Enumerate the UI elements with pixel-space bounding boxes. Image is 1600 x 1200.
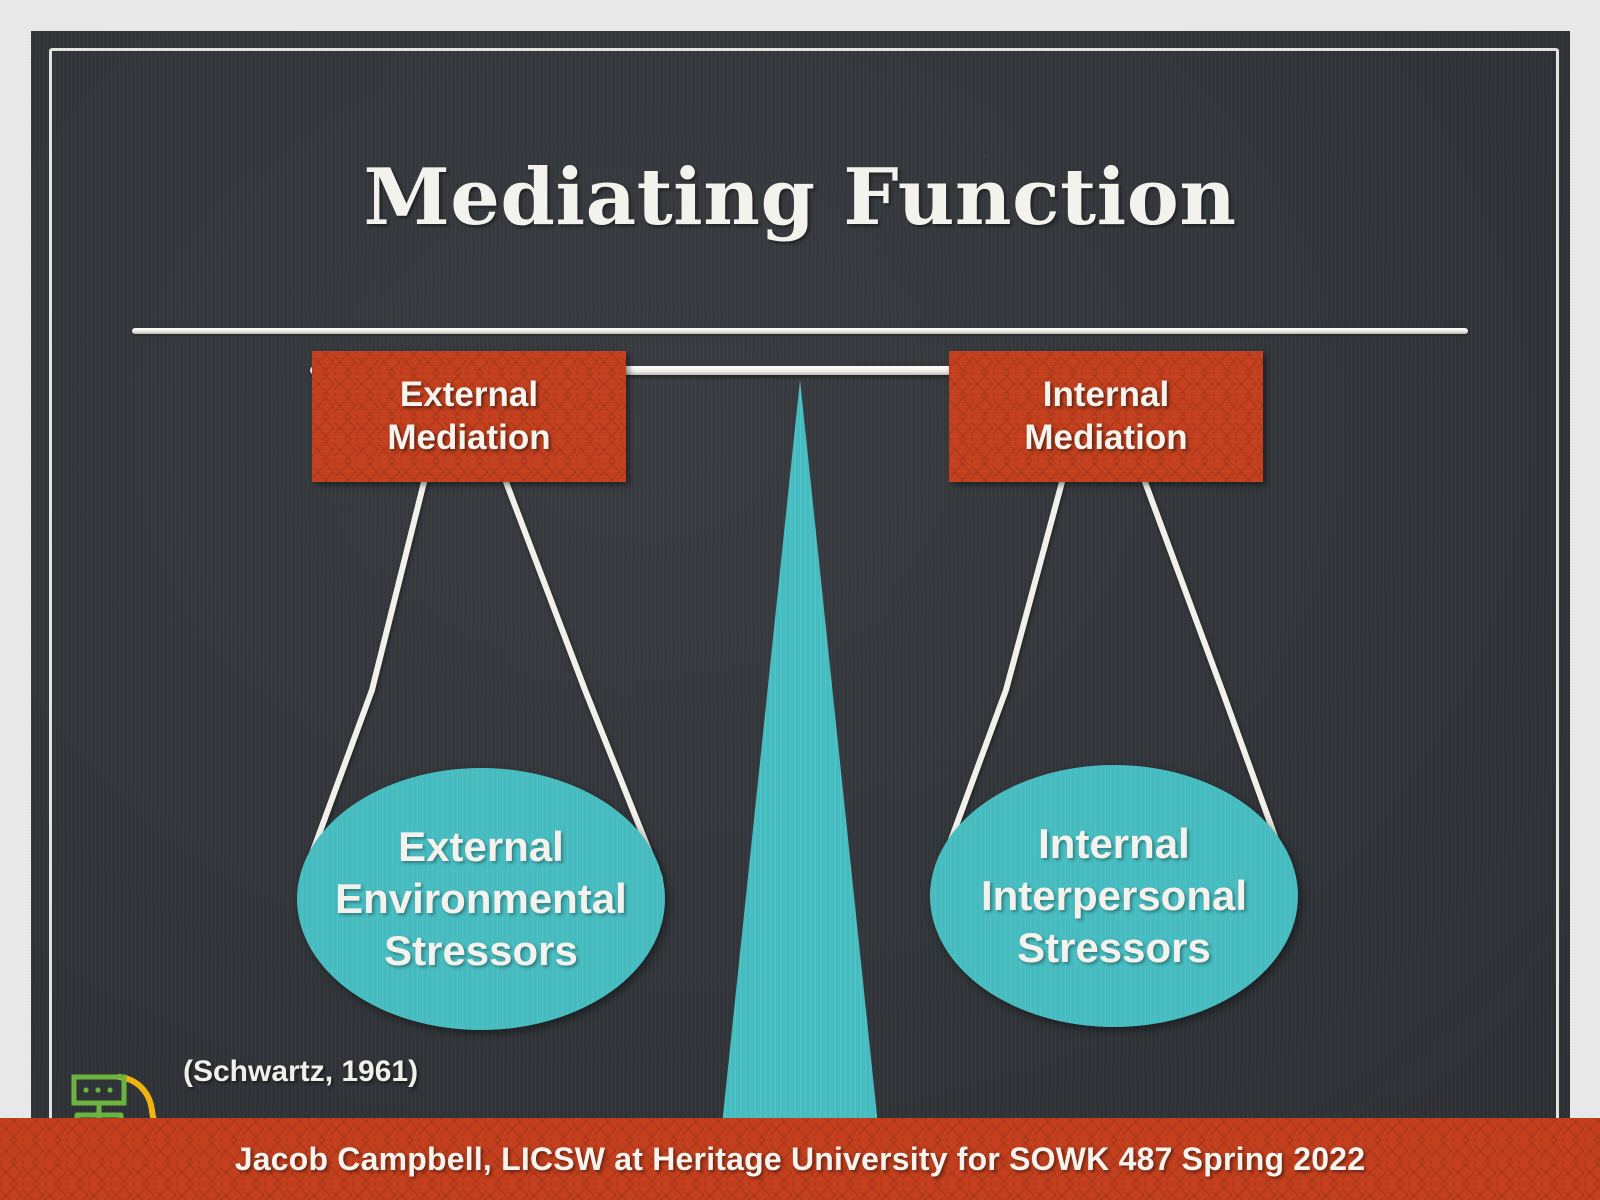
internal-mediation-label: Internal Mediation (1024, 374, 1187, 459)
external-mediation-label: External Mediation (387, 374, 550, 459)
footer-bar: Jacob Campbell, LICSW at Heritage Univer… (0, 1118, 1600, 1200)
title-underline-rule (132, 328, 1468, 334)
external-stressors-pan[interactable]: External Environmental Stressors (297, 768, 665, 1030)
footer-attribution-text: Jacob Campbell, LICSW at Heritage Univer… (235, 1141, 1366, 1178)
internal-mediation-box[interactable]: Internal Mediation (949, 351, 1263, 482)
external-mediation-box[interactable]: External Mediation (312, 351, 626, 482)
internal-stressors-label: Internal Interpersonal Stressors (981, 818, 1247, 974)
slide-canvas: Mediating Function External Mediation In… (0, 0, 1600, 1200)
external-stressors-label: External Environmental Stressors (335, 821, 627, 977)
fulcrum-triangle (700, 380, 900, 1125)
citation-text: (Schwartz, 1961) (183, 1055, 418, 1089)
page-title: Mediating Function (0, 152, 1600, 243)
internal-stressors-pan[interactable]: Internal Interpersonal Stressors (930, 765, 1298, 1027)
